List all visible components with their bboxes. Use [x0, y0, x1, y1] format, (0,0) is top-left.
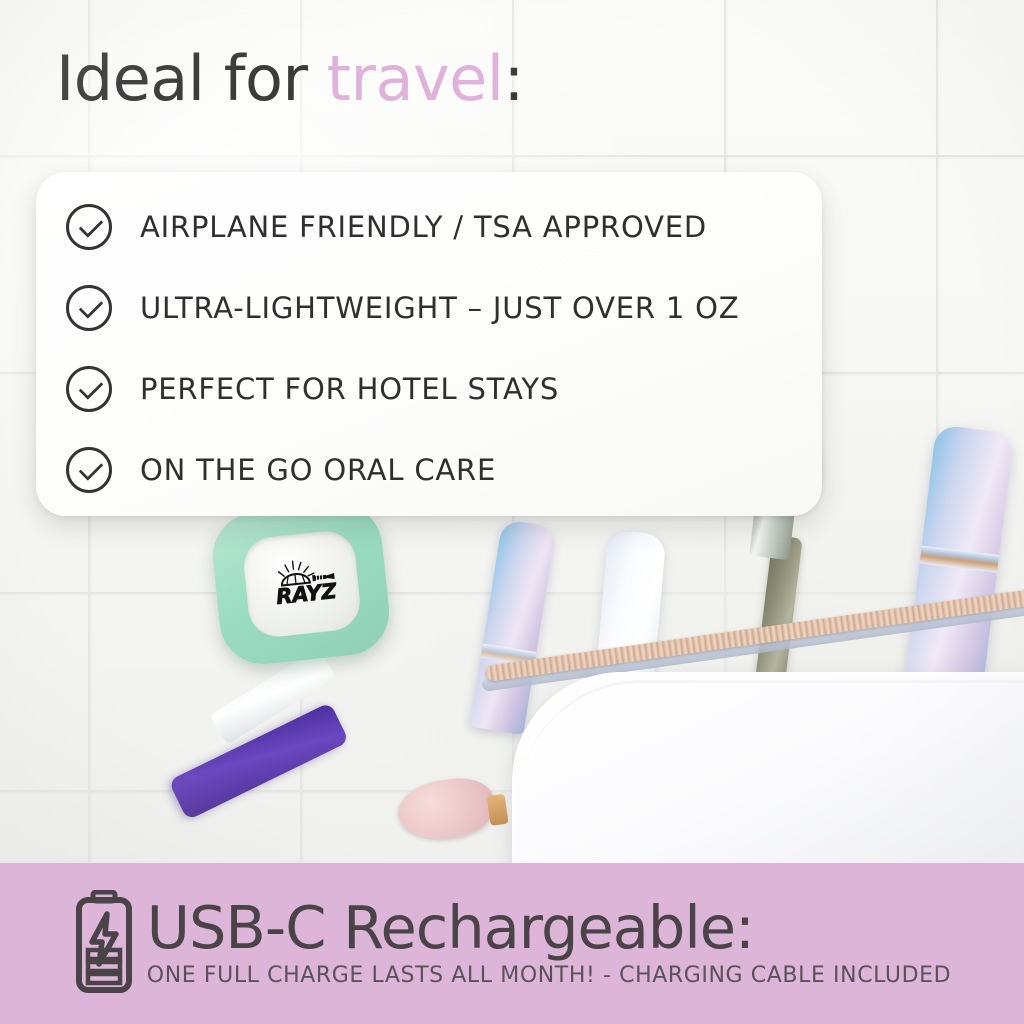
title-prefix: Ideal for	[56, 42, 327, 115]
toothbrush-head: RAYZ	[209, 500, 394, 669]
banner-title: USB-C Rechargeable:	[147, 899, 754, 957]
usb-c-banner: USB-C Rechargeable: ONE FULL CHARGE LAST…	[0, 863, 1024, 1024]
banner-subtitle: ONE FULL CHARGE LASTS ALL MONTH! - CHARG…	[147, 963, 951, 988]
feature-card: AIRPLANE FRIENDLY / TSA APPROVED ULTRA-L…	[36, 172, 822, 516]
list-item: ULTRA-LIGHTWEIGHT – JUST OVER 1 OZ	[66, 267, 812, 348]
feature-label: AIRPLANE FRIENDLY / TSA APPROVED	[140, 210, 707, 244]
feature-label: ON THE GO ORAL CARE	[140, 453, 496, 487]
list-item: AIRPLANE FRIENDLY / TSA APPROVED	[66, 186, 812, 267]
check-circle-icon	[66, 366, 112, 412]
title-highlight: travel	[327, 42, 504, 115]
svg-text:RAYZ: RAYZ	[275, 579, 338, 609]
feature-label: ULTRA-LIGHTWEIGHT – JUST OVER 1 OZ	[140, 291, 739, 325]
check-circle-icon	[66, 285, 112, 331]
page-title: Ideal for travel:	[56, 48, 524, 110]
list-item: PERFECT FOR HOTEL STAYS	[66, 348, 812, 429]
toothbrush-face-plate: RAYZ	[241, 528, 363, 639]
lipstick-band	[920, 545, 1000, 572]
cosmetic-bag-seam	[520, 680, 1024, 803]
check-circle-icon	[66, 204, 112, 250]
banner-text-group: USB-C Rechargeable: ONE FULL CHARGE LAST…	[147, 899, 951, 989]
lipstick-tube	[470, 519, 556, 735]
battery-charging-icon	[73, 890, 135, 999]
feature-label: PERFECT FOR HOTEL STAYS	[140, 372, 559, 406]
check-circle-icon	[66, 447, 112, 493]
zipper-pull	[394, 774, 497, 845]
product-marketing-image: Ideal for travel:	[0, 0, 1024, 1024]
feature-list: AIRPLANE FRIENDLY / TSA APPROVED ULTRA-L…	[66, 186, 812, 510]
list-item: ON THE GO ORAL CARE	[66, 429, 812, 510]
rayz-brand-logo: RAYZ	[262, 554, 342, 618]
banner-content: USB-C Rechargeable: ONE FULL CHARGE LAST…	[0, 863, 1024, 1024]
title-suffix: :	[504, 42, 524, 115]
